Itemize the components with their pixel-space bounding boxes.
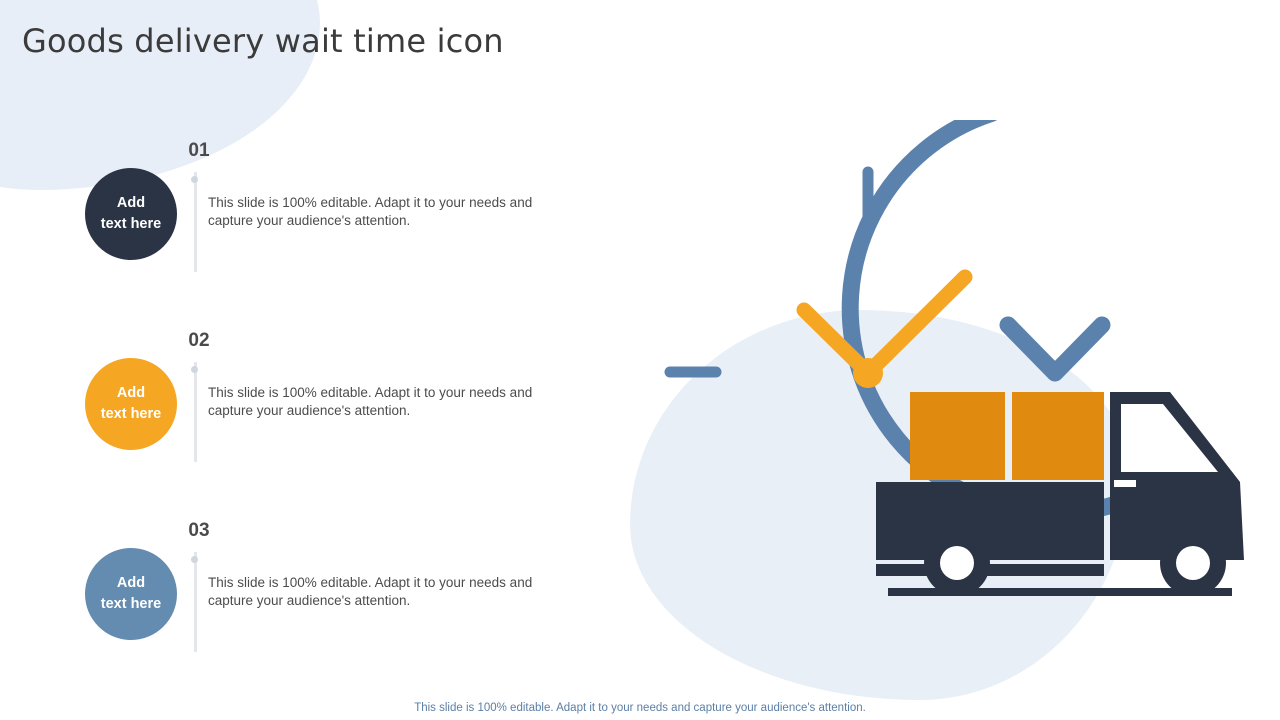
list-item[interactable]: 02 Add text here This slide is 100% edit… [70,330,590,520]
connector-dot [191,366,198,373]
clock-hands-icon [804,277,965,388]
step-number: 03 [144,520,254,542]
list-item[interactable]: 01 Add text here This slide is 100% edit… [70,140,590,330]
step-description: This slide is 100% editable. Adapt it to… [208,384,578,420]
step-circle-label-line1: Add [101,193,161,214]
step-circle-label-line1: Add [101,383,161,404]
connector-line [194,552,197,652]
list-item[interactable]: 03 Add text here This slide is 100% edit… [70,520,590,710]
connector-line [194,172,197,272]
step-circle-3[interactable]: Add text here [85,548,177,640]
step-description: This slide is 100% editable. Adapt it to… [208,574,578,610]
slide-canvas: Goods delivery wait time icon 01 Add tex… [0,0,1280,720]
step-number: 01 [144,140,254,162]
step-circle-label-line2: text here [101,404,161,425]
delivery-truck-clock-illustration [640,120,1280,640]
step-description: This slide is 100% editable. Adapt it to… [208,194,578,230]
connector-dot [191,556,198,563]
step-circle-label-line2: text here [101,594,161,615]
footer-note: This slide is 100% editable. Adapt it to… [0,702,1280,714]
step-circle-label-line1: Add [101,573,161,594]
step-number: 02 [144,330,254,352]
connector-line [194,362,197,462]
page-title: Goods delivery wait time icon [22,22,504,60]
connector-dot [191,176,198,183]
step-circle-2[interactable]: Add text here [85,358,177,450]
arrow-icon [1008,325,1102,373]
steps-list: 01 Add text here This slide is 100% edit… [70,140,590,710]
step-circle-label-line2: text here [101,214,161,235]
cargo-box-icon [910,392,1104,480]
step-circle-1[interactable]: Add text here [85,168,177,260]
